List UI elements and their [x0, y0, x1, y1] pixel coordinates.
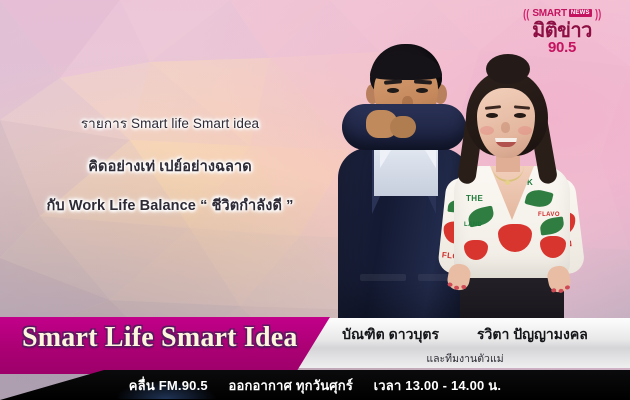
hosts-row: บัณฑิต ดาวบุตร รวิตา ปัญญามงคล — [300, 321, 630, 346]
female-host-blouse: PLK THE LAND FLAVO — [454, 166, 570, 278]
fingernail — [447, 282, 453, 287]
necklace-pendant — [505, 180, 510, 185]
print-word: THE — [466, 194, 483, 203]
print-leaf — [524, 187, 553, 210]
hosts-subtitle: และทีมงานตัวแม่ — [300, 350, 630, 367]
print-leaf — [539, 216, 565, 235]
female-host-photo: FLO AMIN PLK THE LAND FLAVO — [430, 58, 590, 338]
host-name-1: บัณฑิต ดาวบุตร — [342, 324, 439, 346]
female-host-cheek-left — [480, 126, 494, 135]
schedule-airing: ออกอากาศ ทุกวันศุกร์ — [228, 378, 353, 393]
print-berry — [464, 240, 488, 260]
radio-show-promo-banner: (( SMART NEWS )) มิติข่าว 90.5 รายการ Sm… — [0, 0, 630, 400]
host-name-2: รวิตา ปัญญามงคล — [477, 324, 588, 346]
bottom-banner: บัณฑิต ดาวบุตร รวิตา ปัญญามงคล และทีมงาน… — [0, 317, 630, 400]
print-berry — [498, 224, 532, 252]
male-host-hand-right — [390, 116, 416, 138]
show-title: Smart Life Smart Idea — [22, 322, 298, 354]
fingernail — [565, 285, 571, 290]
female-host-cheek-right — [518, 126, 532, 135]
female-host-eye-left — [486, 113, 498, 118]
female-host-eye-right — [514, 113, 526, 118]
schedule-time: เวลา 13.00 - 14.00 น. — [374, 378, 502, 393]
schedule-text: คลื่น FM.90.5 ออกอากาศ ทุกวันศุกร์ เวลา … — [0, 375, 630, 396]
print-word: LAND — [464, 222, 482, 228]
female-host-teeth — [495, 138, 517, 142]
male-host-eye-right — [416, 88, 428, 93]
female-host-nose — [501, 122, 510, 133]
print-word: FLAVO — [538, 212, 560, 218]
hosts-names: บัณฑิต ดาวบุตร รวิตา ปัญญามงคล และทีมงาน… — [300, 321, 630, 369]
suit-pocket-left — [360, 274, 406, 281]
fingernail — [551, 288, 557, 293]
male-host-eye-left — [387, 88, 399, 93]
schedule-station: คลื่น FM.90.5 — [129, 378, 208, 393]
fingernail — [454, 285, 460, 290]
print-berry — [540, 236, 566, 258]
female-host-hair-bun — [486, 54, 530, 84]
